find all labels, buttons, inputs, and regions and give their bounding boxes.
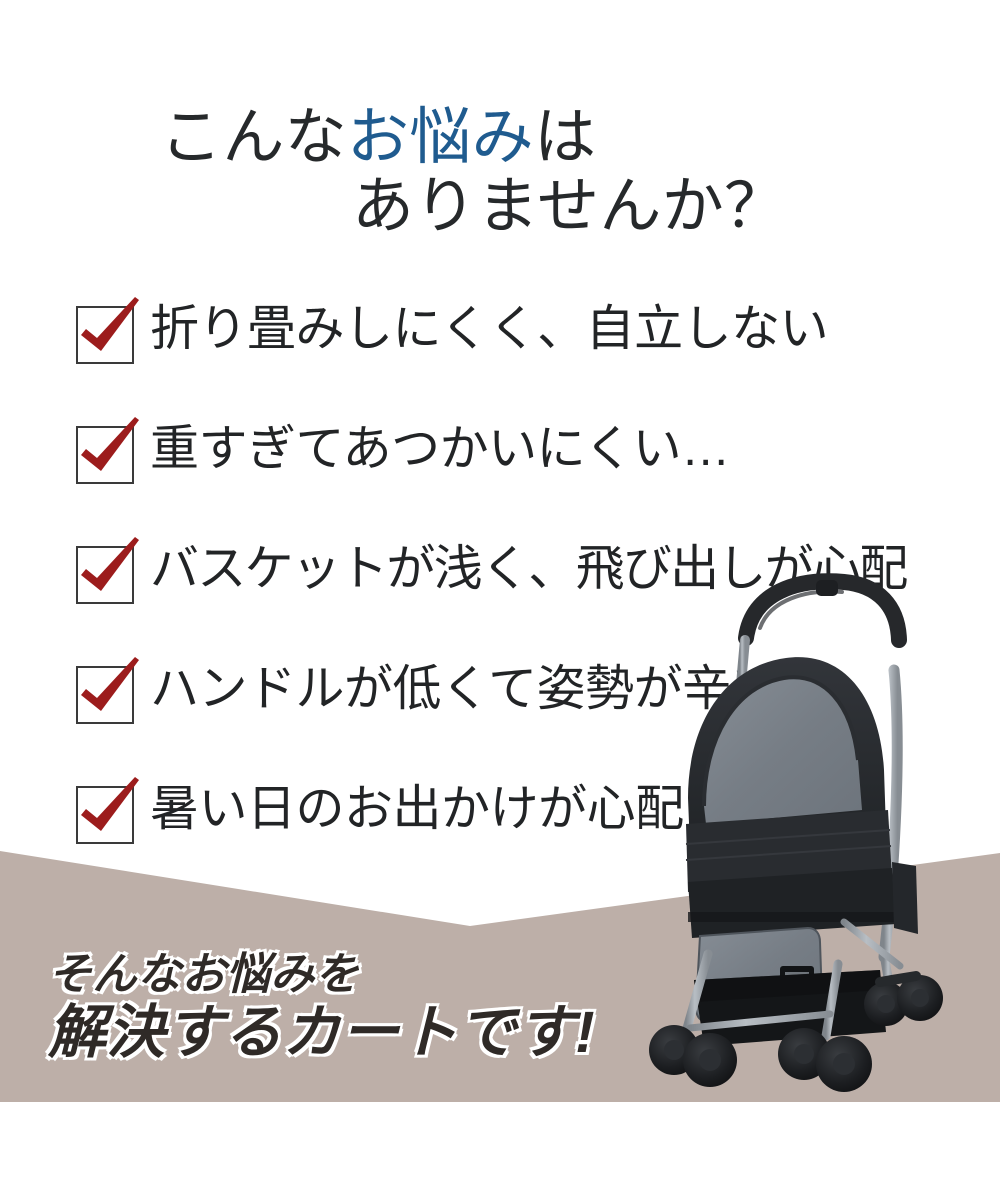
list-item-label: 折り畳みしにくく、自立しない xyxy=(150,300,828,358)
checkmark-icon xyxy=(73,293,153,369)
bottom-callout: そんなお悩みを 解決するカートです! xyxy=(48,952,595,1066)
list-item: 折り畳みしにくく、自立しない xyxy=(0,300,1000,420)
headline-line-1: こんなお悩みは xyxy=(0,104,1000,173)
list-item-label: 暑い日のお出かけが心配… xyxy=(150,780,732,838)
list-item-label: 重すぎてあつかいにくい… xyxy=(150,420,730,478)
checkbox-3 xyxy=(76,546,134,604)
promo-page: こんなお悩みは ありませんか？ 折り畳みしにくく、自立しない 重すぎてあつかいに… xyxy=(0,0,1000,1200)
headline-line-2: ありませんか？ xyxy=(0,173,1000,242)
handle-joint xyxy=(816,580,838,596)
callout-line-1: そんなお悩みを xyxy=(48,952,595,999)
product-image-pet-stroller xyxy=(648,562,1000,1102)
checkmark-icon xyxy=(73,653,153,729)
checkmark-icon xyxy=(73,413,153,489)
checkmark-icon xyxy=(73,773,153,849)
checkmark-icon xyxy=(73,533,153,609)
checkbox-4 xyxy=(76,666,134,724)
headline-prefix: こんな xyxy=(160,104,347,172)
side-pocket xyxy=(892,862,918,934)
headline-suffix: は xyxy=(534,104,596,172)
checkbox-2 xyxy=(76,426,134,484)
checkbox-1 xyxy=(76,306,134,364)
cabin-trim xyxy=(688,912,896,922)
headline-accent: お悩み xyxy=(347,104,534,172)
callout-line-2: 解決するカートです! xyxy=(48,1001,595,1066)
wheel-axle-bracket xyxy=(880,976,916,982)
headline: こんなお悩みは ありませんか？ xyxy=(0,104,1000,243)
list-item: 重すぎてあつかいにくい… xyxy=(0,420,1000,540)
checkbox-5 xyxy=(76,786,134,844)
